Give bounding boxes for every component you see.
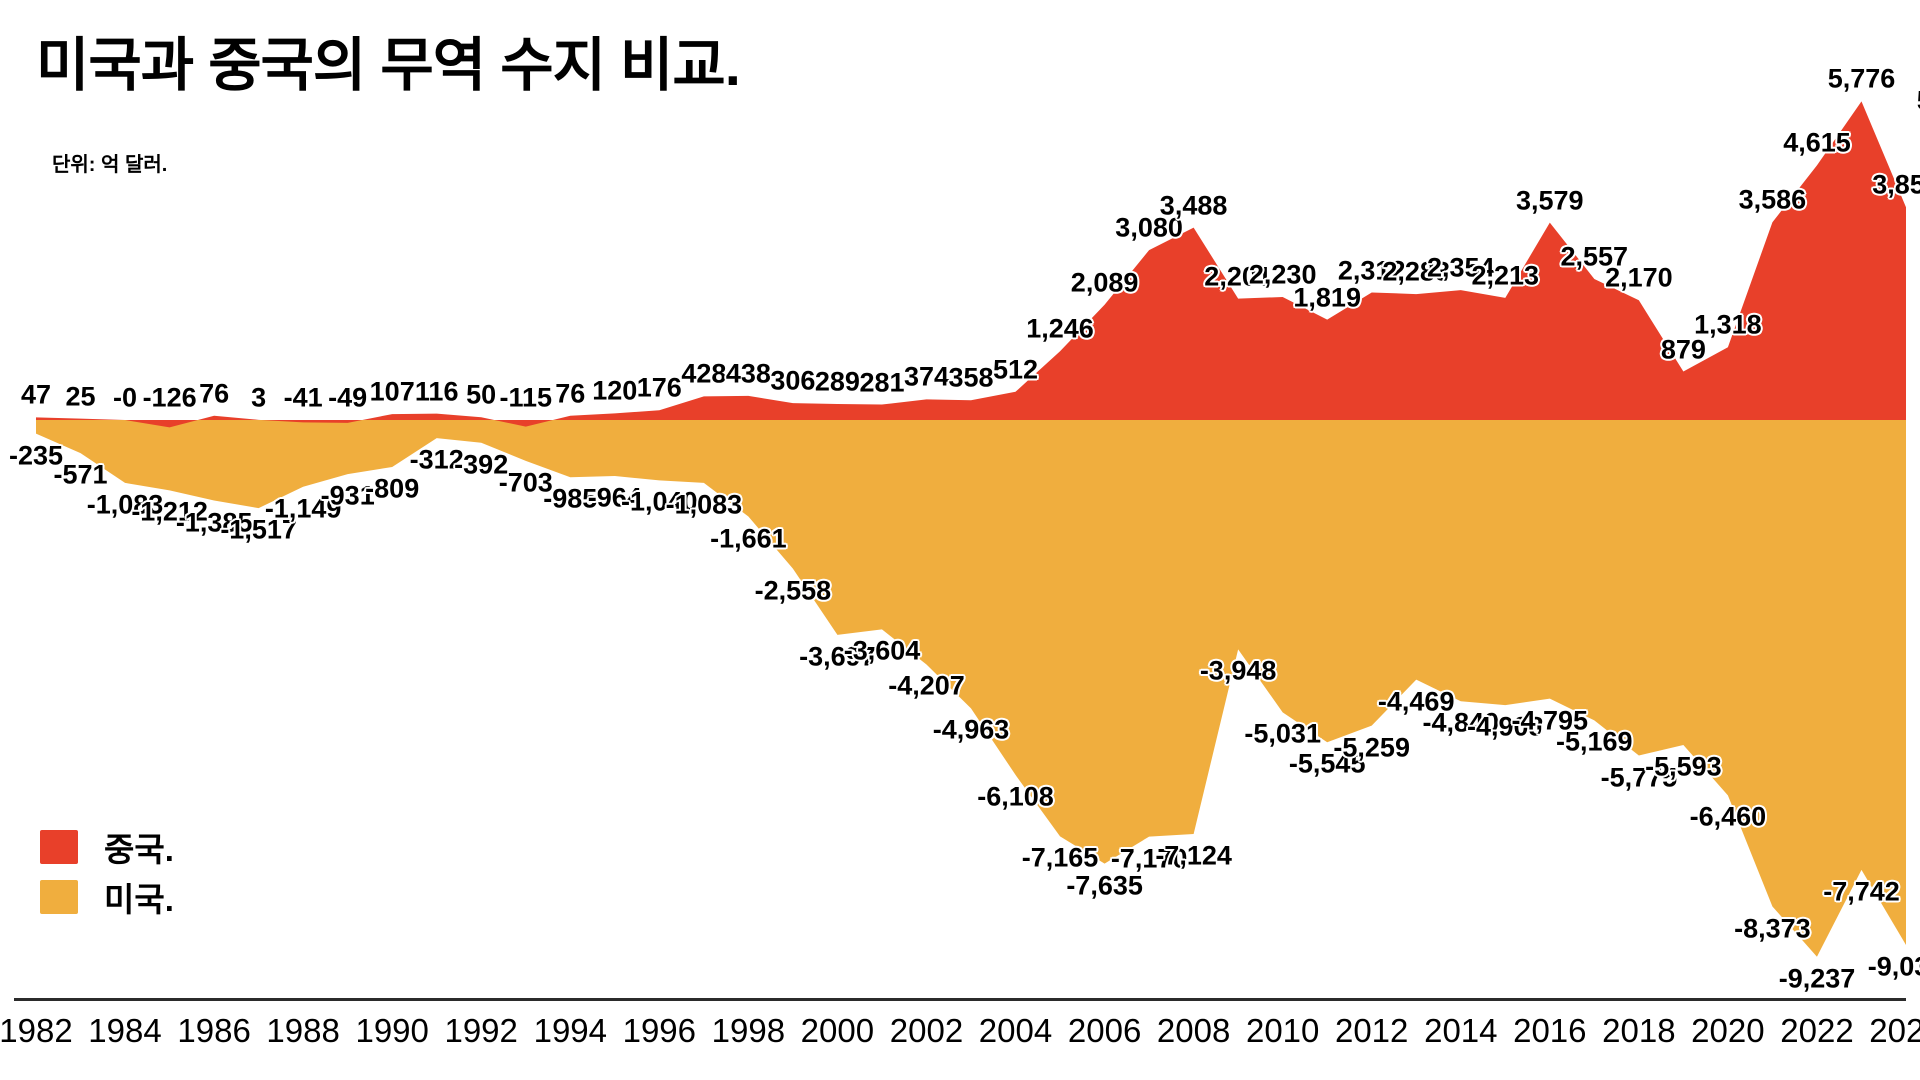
x-tick-label: 2010: [1246, 1012, 1319, 1050]
x-tick-label: 2008: [1157, 1012, 1230, 1050]
chart-page: 미국과 중국의 무역 수지 비교. 단위: 억 달러. 4725-0-12676…: [0, 0, 1920, 1080]
x-tick-label: 2014: [1424, 1012, 1497, 1050]
legend-swatch-usa: [40, 880, 78, 914]
x-tick-label: 2022: [1780, 1012, 1853, 1050]
x-tick-label: 1984: [88, 1012, 161, 1050]
legend-label-usa: 미국.: [104, 873, 174, 921]
legend-swatch-china: [40, 830, 78, 864]
x-tick-label: 2018: [1602, 1012, 1675, 1050]
x-tick-label: 1994: [534, 1012, 607, 1050]
legend-label-china: 중국.: [104, 823, 174, 871]
x-tick-label: 2016: [1513, 1012, 1586, 1050]
x-tick-label: 1986: [177, 1012, 250, 1050]
x-axis-line: [14, 998, 1906, 1001]
x-tick-label: 1992: [444, 1012, 517, 1050]
x-tick-label: 1990: [355, 1012, 428, 1050]
area-china: [36, 101, 1906, 427]
legend-item-usa[interactable]: 미국.: [40, 876, 174, 918]
x-tick-label: 1982: [0, 1012, 73, 1050]
chart-svg: [0, 0, 1920, 1010]
legend-item-china[interactable]: 중국.: [40, 826, 174, 868]
x-tick-label: 2000: [801, 1012, 874, 1050]
x-tick-label: 2004: [979, 1012, 1052, 1050]
x-tick-label: 2006: [1068, 1012, 1141, 1050]
x-tick-label: 2012: [1335, 1012, 1408, 1050]
chart-legend: 중국. 미국.: [40, 826, 174, 918]
area-usa: [36, 420, 1906, 957]
x-tick-label: 2002: [890, 1012, 963, 1050]
x-tick-label: 2020: [1691, 1012, 1764, 1050]
chart-plot-area: 4725-0-126763-41-4910711650-115761201764…: [0, 0, 1920, 1010]
x-tick-label: 2024: [1869, 1012, 1920, 1050]
x-tick-label: 1996: [623, 1012, 696, 1050]
x-axis-ticks: 1982198419861988199019921994199619982000…: [0, 1012, 1920, 1072]
x-tick-label: 1988: [266, 1012, 339, 1050]
x-tick-label: 1998: [712, 1012, 785, 1050]
